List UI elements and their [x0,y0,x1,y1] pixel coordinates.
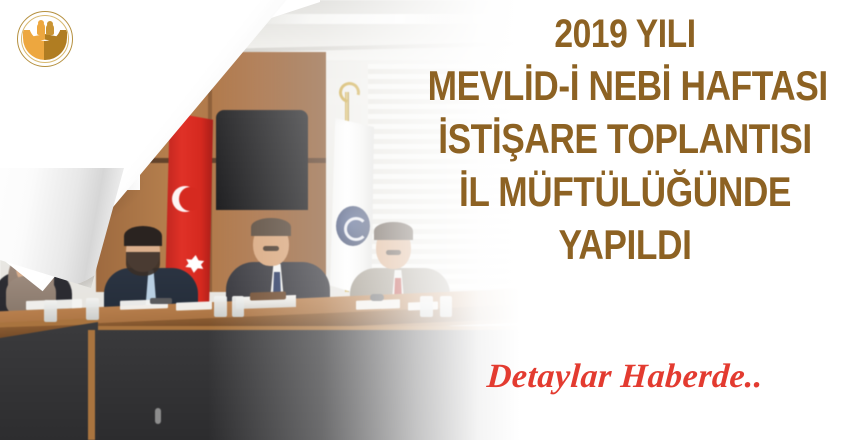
headline-line-5: YAPILDI [428,224,823,266]
headline-block: 2019 YILI MEVLİD-İ NEBİ HAFTASI İSTİŞARE… [390,14,860,266]
headline-line-3: İSTİŞARE TOPLANTISI [428,118,823,160]
headline-line-4: İL MÜFTÜLÜĞÜNDE [428,171,823,213]
emblem-inner-ring [21,15,69,63]
news-banner: 2019 YILI MEVLİD-İ NEBİ HAFTASI İSTİŞARE… [0,0,860,440]
headline-line-1: 2019 YILI [428,14,823,54]
emblem-figure-2-head [47,21,53,27]
mufti-office-emblem-icon[interactable] [17,11,73,67]
tagline-text: Detaylar Haberde.. [389,358,860,396]
headline-line-2: MEVLİD-İ NEBİ HAFTASI [428,65,823,107]
emblem-figure-1-head [38,20,44,26]
